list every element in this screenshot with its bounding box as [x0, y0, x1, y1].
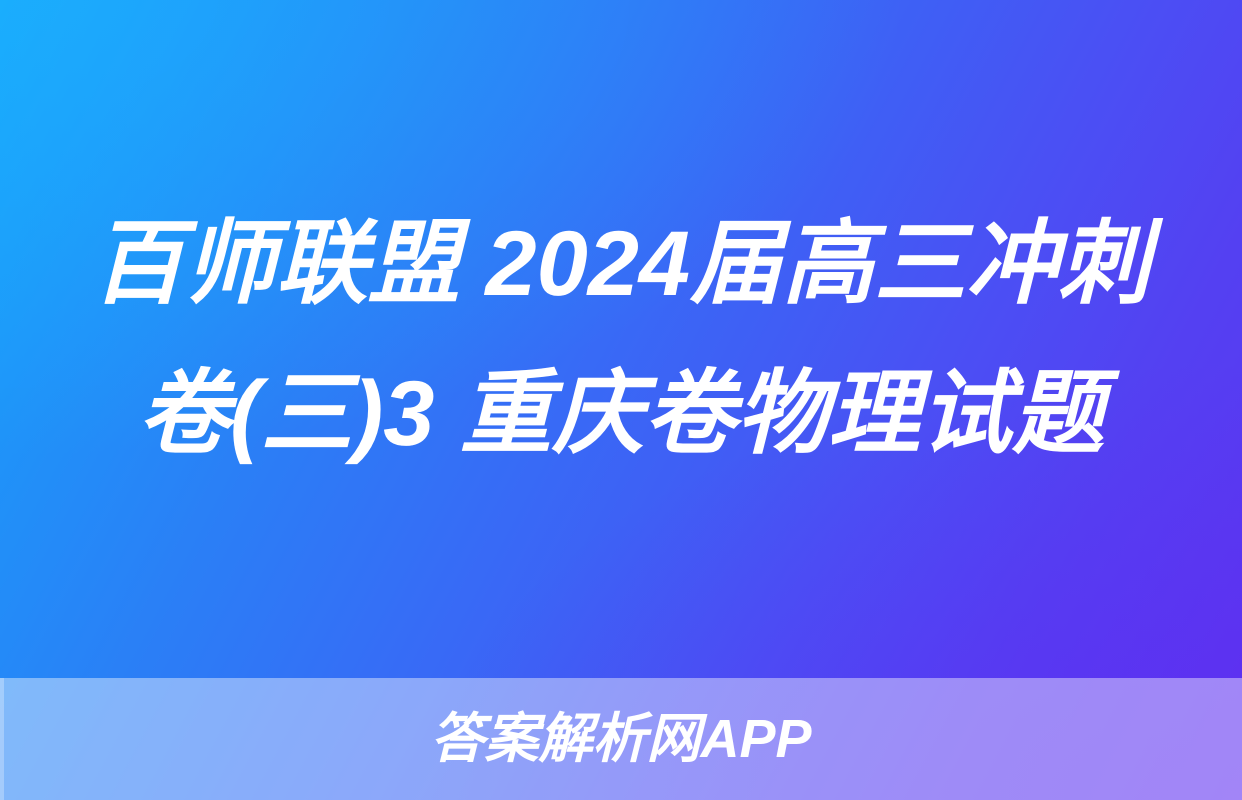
page-title: 百师联盟 2024届高三冲刺卷(三)3 重庆卷物理试题 — [71, 189, 1171, 489]
watermark-app-name: 答案解析网APP — [430, 712, 811, 766]
watermark-banner: 答案解析网APP — [0, 678, 1242, 800]
banner-left-edge-highlight — [0, 678, 4, 800]
title-block: 百师联盟 2024届高三冲刺卷(三)3 重庆卷物理试题 — [0, 0, 1242, 678]
poster-canvas: 百师联盟 2024届高三冲刺卷(三)3 重庆卷物理试题 答案解析网APP — [0, 0, 1242, 800]
